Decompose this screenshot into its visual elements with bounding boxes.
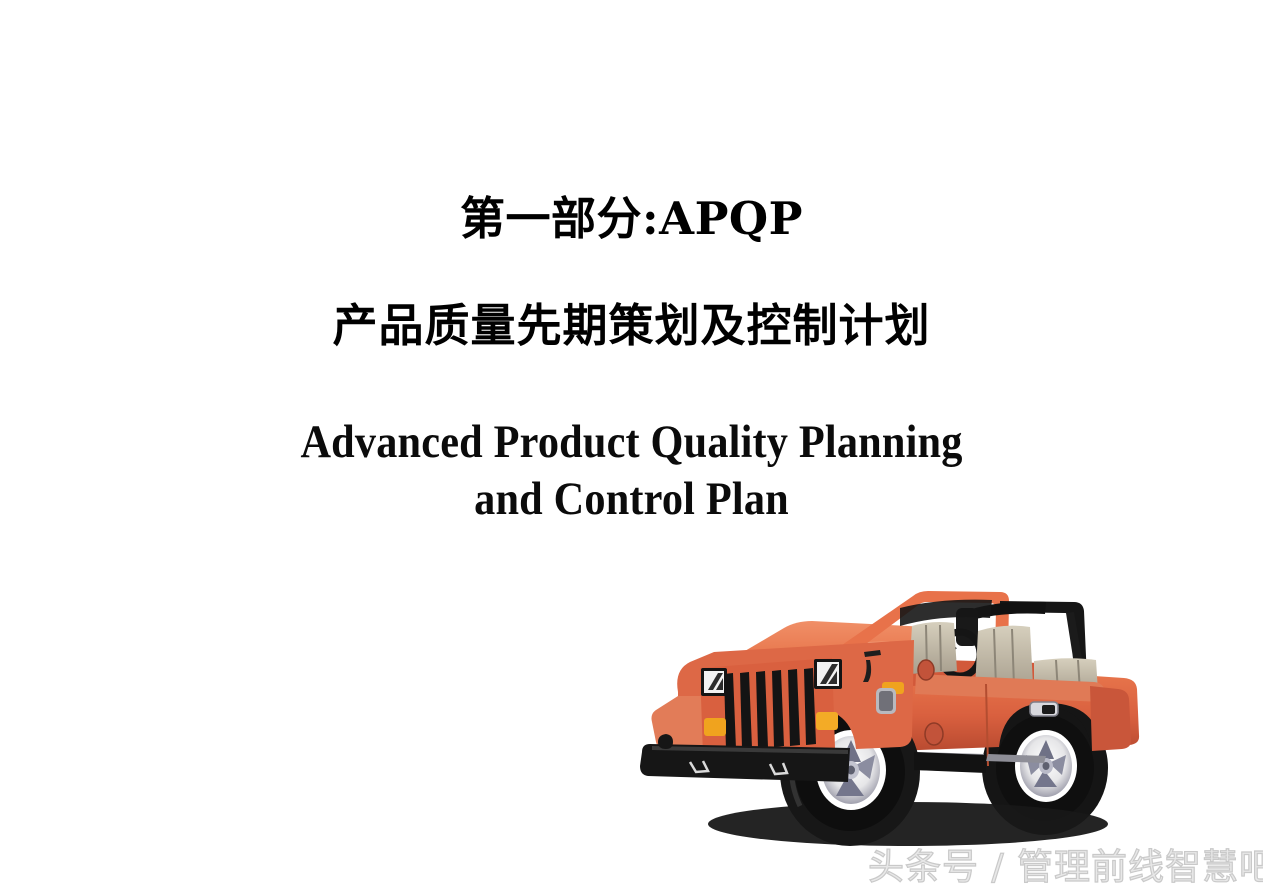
page-title-chinese-part: 第一部分:APQP: [0, 196, 1263, 241]
watermark-text: 头条号 / 管理前线智慧吧: [868, 843, 1263, 893]
headlight-right: [814, 659, 842, 689]
lower-rocker: [914, 752, 986, 773]
subtitle-english: Advanced Product Quality Planning and Co…: [63, 414, 1200, 529]
side-mirror-glass: [879, 691, 893, 711]
turn-signal-right: [816, 712, 838, 730]
subtitle-english-line-1: Advanced Product Quality Planning: [63, 414, 1200, 471]
turn-signal-left: [704, 718, 726, 736]
door-handle: [1030, 702, 1058, 716]
jeep-wrangler-illustration: [638, 556, 1178, 851]
rear-body-panel: [1090, 686, 1131, 751]
presentation-slide: 第一部分:APQP 产品质量先期策划及控制计划 Advanced Product…: [0, 0, 1263, 893]
subtitle-english-line-2: and Control Plan: [63, 471, 1200, 528]
jeep-wrangler-icon: [638, 556, 1178, 851]
subtitle-chinese: 产品质量先期策划及控制计划: [0, 303, 1263, 348]
headlight-left: [701, 668, 727, 696]
title-block: 第一部分:APQP 产品质量先期策划及控制计划 Advanced Product…: [0, 196, 1263, 529]
